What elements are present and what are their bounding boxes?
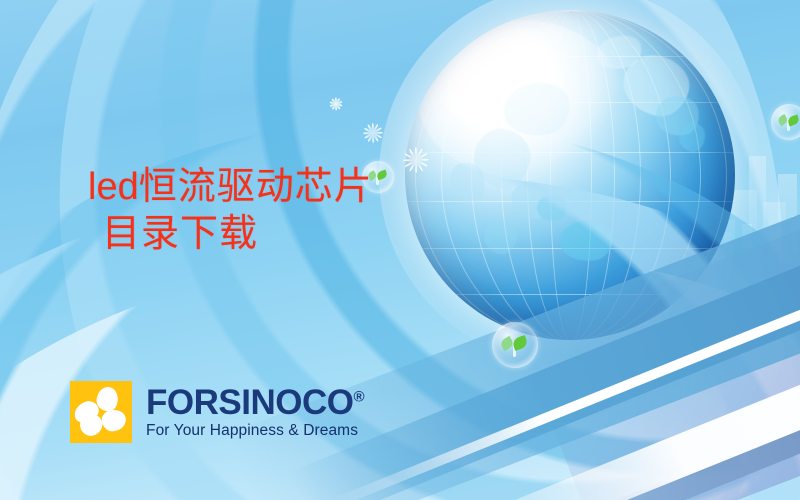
headline-line-2: 目录下载 <box>102 210 373 256</box>
globe-rim-shading <box>405 10 735 340</box>
bubble-with-seedling-icon <box>771 104 800 140</box>
seedling-leaf <box>376 170 388 181</box>
logo-text-block: FORSINOCO® For Your Happiness & Dreams <box>146 385 364 440</box>
skyline-building <box>771 230 780 260</box>
four-petal-flower-mark-icon <box>70 381 132 443</box>
registered-trademark-icon: ® <box>353 388 364 405</box>
logo-petal <box>100 407 127 433</box>
skyline-building <box>792 216 800 260</box>
logo-tagline: For Your Happiness & Dreams <box>146 422 364 440</box>
headline: led恒流驱动芯片 目录下载 <box>88 163 373 257</box>
headline-line-1: led恒流驱动芯片 <box>88 163 373 210</box>
bubble-with-seedling-icon <box>492 322 538 368</box>
seedling-leaf <box>512 335 529 351</box>
sparkle-flower-icon <box>330 98 343 111</box>
sparkle-flower-icon <box>403 147 429 173</box>
earth-globe <box>405 10 735 340</box>
promo-banner: led恒流驱动芯片 目录下载 FORSINOCO® For Your Happi… <box>0 0 800 500</box>
seedling-leaf <box>786 114 799 126</box>
headline-latin: led <box>88 166 139 208</box>
company-logo: FORSINOCO® For Your Happiness & Dreams <box>70 381 364 443</box>
logo-wordmark-text: FORSINOCO <box>146 383 353 422</box>
logo-wordmark: FORSINOCO® <box>146 385 364 420</box>
headline-cjk: 恒流驱动芯片 <box>139 164 373 208</box>
globe-sphere <box>405 10 735 340</box>
sparkle-flower-icon <box>363 123 383 143</box>
logo-petal <box>95 384 121 412</box>
